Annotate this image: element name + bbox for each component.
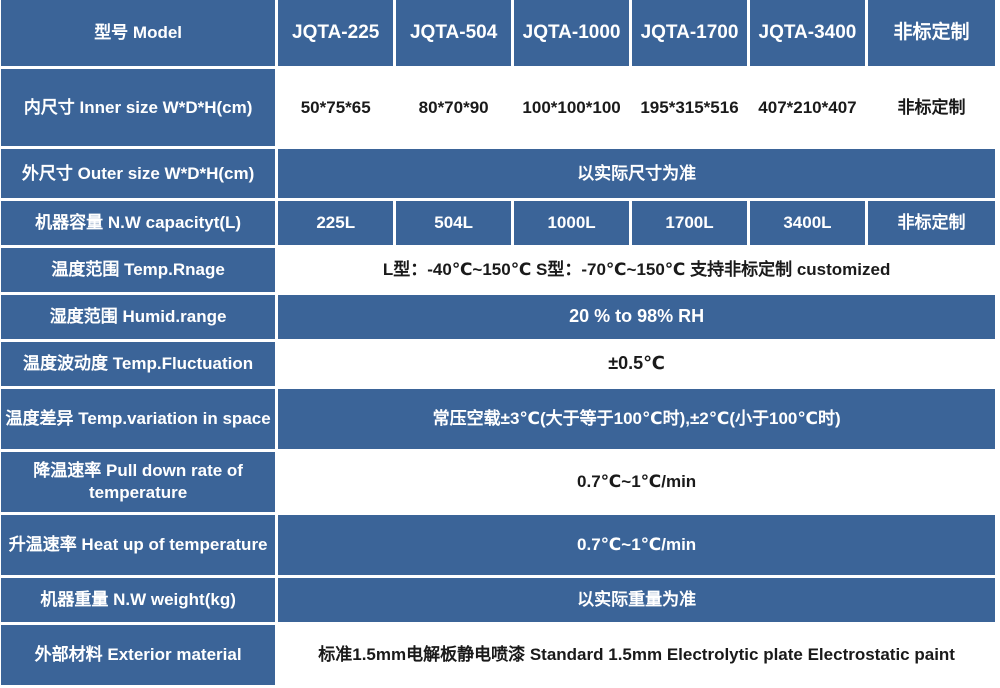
cell-capacity-5: 3400L <box>750 201 865 245</box>
row-label-temp-range: 温度范围 Temp.Rnage <box>1 248 275 292</box>
row-label-weight: 机器重量 N.W weight(kg) <box>1 578 275 622</box>
table-row-heat-up-rate: 升温速率 Heat up of temperature 0.7℃~1℃/min <box>1 515 995 575</box>
table-row-inner-size: 内尺寸 Inner size W*D*H(cm) 50*75*65 80*70*… <box>1 69 995 146</box>
specification-table: 型号 Model JQTA-225 JQTA-504 JQTA-1000 JQT… <box>0 0 998 688</box>
table-row-humidity-range: 湿度范围 Humid.range 20 % to 98% RH <box>1 295 995 339</box>
row-label-outer-size: 外尺寸 Outer size W*D*H(cm) <box>1 149 275 198</box>
cell-capacity-2: 504L <box>396 201 511 245</box>
row-label-capacity: 机器容量 N.W capacityt(L) <box>1 201 275 245</box>
table-row-temp-fluctuation: 温度波动度 Temp.Fluctuation ±0.5℃ <box>1 342 995 386</box>
cell-inner-size-6: 非标定制 <box>868 69 995 146</box>
row-label-model: 型号 Model <box>1 0 275 66</box>
table-row-temp-range: 温度范围 Temp.Rnage L型：-40℃~150℃ S型：-70℃~150… <box>1 248 995 292</box>
row-label-inner-size: 内尺寸 Inner size W*D*H(cm) <box>1 69 275 146</box>
cell-capacity-3: 1000L <box>514 201 629 245</box>
cell-capacity-4: 1700L <box>632 201 747 245</box>
cell-pull-down-rate-value: 0.7℃~1℃/min <box>278 452 995 512</box>
cell-temp-fluctuation-value: ±0.5℃ <box>278 342 995 386</box>
table-row-capacity: 机器容量 N.W capacityt(L) 225L 504L 1000L 17… <box>1 201 995 245</box>
row-label-temp-fluctuation: 温度波动度 Temp.Fluctuation <box>1 342 275 386</box>
cell-inner-size-1: 50*75*65 <box>278 69 393 146</box>
table-row-temp-variation: 温度差异 Temp.variation in space 常压空载±3℃(大于等… <box>1 389 995 449</box>
cell-model-1: JQTA-225 <box>278 0 393 66</box>
cell-heat-up-rate-value: 0.7℃~1℃/min <box>278 515 995 575</box>
cell-model-5: JQTA-3400 <box>750 0 865 66</box>
cell-temp-variation-value: 常压空载±3℃(大于等于100℃时),±2℃(小于100℃时) <box>278 389 995 449</box>
cell-model-4: JQTA-1700 <box>632 0 747 66</box>
cell-capacity-1: 225L <box>278 201 393 245</box>
row-label-humidity-range: 湿度范围 Humid.range <box>1 295 275 339</box>
table-row-weight: 机器重量 N.W weight(kg) 以实际重量为准 <box>1 578 995 622</box>
cell-model-6: 非标定制 <box>868 0 995 66</box>
cell-inner-size-3: 100*100*100 <box>514 69 629 146</box>
table-row-exterior-material: 外部材料 Exterior material 标准1.5mm电解板静电喷漆 St… <box>1 625 995 685</box>
cell-model-2: JQTA-504 <box>396 0 511 66</box>
row-label-exterior-material: 外部材料 Exterior material <box>1 625 275 685</box>
cell-inner-size-2: 80*70*90 <box>396 69 511 146</box>
table-row-model: 型号 Model JQTA-225 JQTA-504 JQTA-1000 JQT… <box>1 0 995 66</box>
cell-inner-size-4: 195*315*516 <box>632 69 747 146</box>
cell-inner-size-5: 407*210*407 <box>750 69 865 146</box>
cell-outer-size-value: 以实际尺寸为准 <box>278 149 995 198</box>
row-label-pull-down-rate: 降温速率 Pull down rate of temperature <box>1 452 275 512</box>
cell-model-3: JQTA-1000 <box>514 0 629 66</box>
cell-weight-value: 以实际重量为准 <box>278 578 995 622</box>
table-row-outer-size: 外尺寸 Outer size W*D*H(cm) 以实际尺寸为准 <box>1 149 995 198</box>
cell-exterior-material-value: 标准1.5mm电解板静电喷漆 Standard 1.5mm Electrolyt… <box>278 625 995 685</box>
row-label-temp-variation: 温度差异 Temp.variation in space <box>1 389 275 449</box>
cell-humidity-range-value: 20 % to 98% RH <box>278 295 995 339</box>
table-row-pull-down-rate: 降温速率 Pull down rate of temperature 0.7℃~… <box>1 452 995 512</box>
row-label-heat-up-rate: 升温速率 Heat up of temperature <box>1 515 275 575</box>
cell-capacity-6: 非标定制 <box>868 201 995 245</box>
cell-temp-range-value: L型：-40℃~150℃ S型：-70℃~150℃ 支持非标定制 customi… <box>278 248 995 292</box>
